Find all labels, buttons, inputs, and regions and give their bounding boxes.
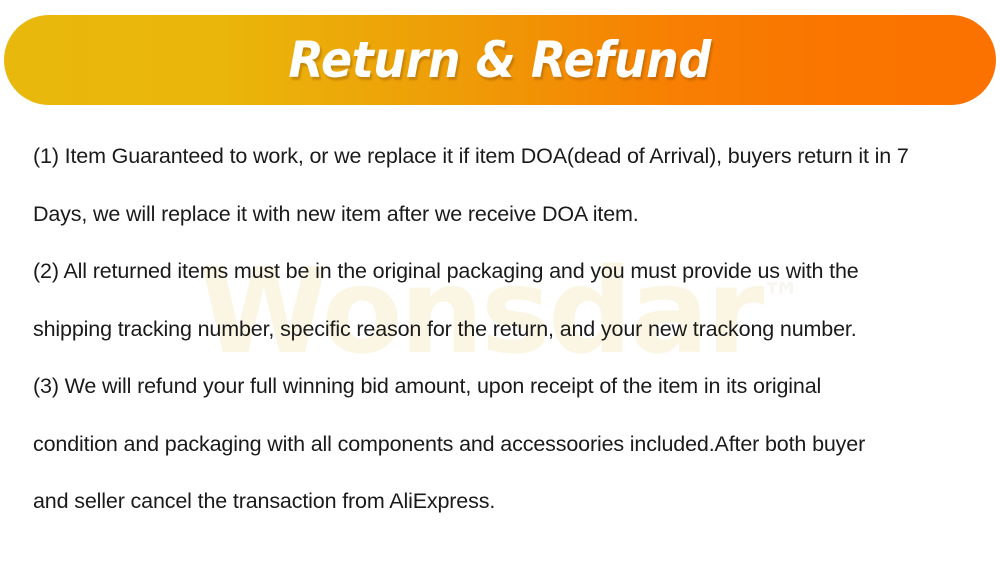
policy-line: (2) All returned items must be in the or… bbox=[33, 243, 973, 301]
policy-text-block: (1) Item Guaranteed to work, or we repla… bbox=[33, 128, 973, 531]
policy-line: (3) We will refund your full winning bid… bbox=[33, 358, 973, 416]
return-refund-page: Return & Refund Wonsdar™ (1) Item Guaran… bbox=[0, 0, 1000, 561]
policy-line: (1) Item Guaranteed to work, or we repla… bbox=[33, 128, 973, 186]
policy-line: shipping tracking number, specific reaso… bbox=[33, 301, 973, 359]
return-refund-banner: Return & Refund bbox=[4, 15, 996, 105]
page-title: Return & Refund bbox=[289, 35, 712, 85]
policy-line: and seller cancel the transaction from A… bbox=[33, 473, 973, 531]
policy-line: condition and packaging with all compone… bbox=[33, 416, 973, 474]
policy-line: Days, we will replace it with new item a… bbox=[33, 186, 973, 244]
